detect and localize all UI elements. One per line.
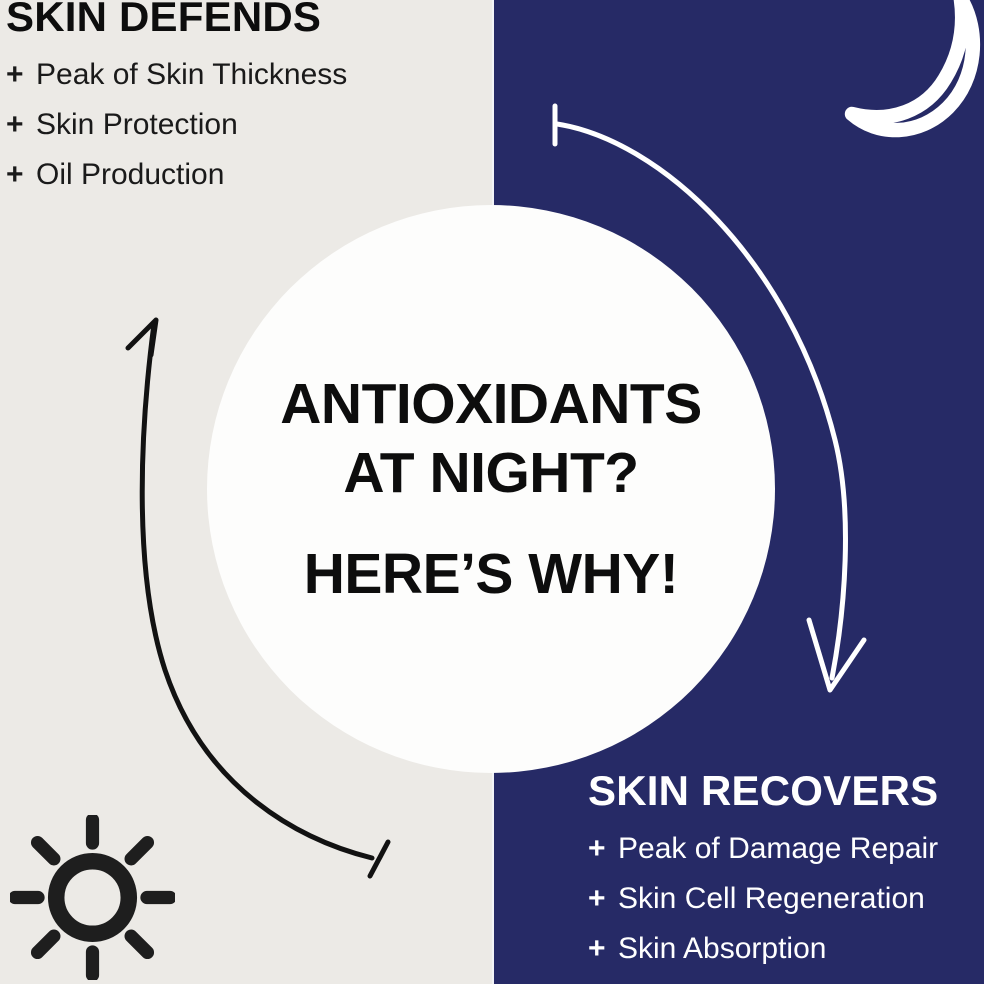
list-item: + Skin Absorption <box>588 934 938 964</box>
headline-line-3: HERE’S WHY! <box>304 546 679 603</box>
list-item: + Skin Protection <box>6 110 347 140</box>
plus-icon: + <box>6 160 36 190</box>
moon-icon <box>836 0 984 146</box>
list-item: + Oil Production <box>6 160 347 190</box>
list-item-label: Peak of Skin Thickness <box>36 60 347 90</box>
plus-icon: + <box>588 884 618 914</box>
list-item-label: Skin Cell Regeneration <box>618 884 925 914</box>
infographic-poster: ANTIOXIDANTS AT NIGHT? HERE’S WHY! SKIN … <box>0 0 984 984</box>
list-item-label: Skin Protection <box>36 110 238 140</box>
list-item: + Skin Cell Regeneration <box>588 884 938 914</box>
headline-line-2: AT NIGHT? <box>343 445 638 502</box>
list-item: + Peak of Damage Repair <box>588 834 938 864</box>
center-headline: ANTIOXIDANTS AT NIGHT? HERE’S WHY! <box>207 205 775 773</box>
day-bullet-list: + Peak of Skin Thickness + Skin Protecti… <box>6 60 347 190</box>
list-item-label: Skin Absorption <box>618 934 826 964</box>
day-heading: SKIN DEFENDS <box>6 0 347 40</box>
night-bullet-list: + Peak of Damage Repair + Skin Cell Rege… <box>588 834 938 964</box>
day-section: SKIN DEFENDS + Peak of Skin Thickness + … <box>6 0 347 190</box>
sun-icon <box>10 815 175 980</box>
night-heading: SKIN RECOVERS <box>588 768 938 814</box>
plus-icon: + <box>6 110 36 140</box>
list-item: + Peak of Skin Thickness <box>6 60 347 90</box>
plus-icon: + <box>588 934 618 964</box>
plus-icon: + <box>6 60 36 90</box>
list-item-label: Peak of Damage Repair <box>618 834 938 864</box>
plus-icon: + <box>588 834 618 864</box>
list-item-label: Oil Production <box>36 160 224 190</box>
headline-line-1: ANTIOXIDANTS <box>280 376 702 433</box>
night-section: SKIN RECOVERS + Peak of Damage Repair + … <box>588 768 938 964</box>
